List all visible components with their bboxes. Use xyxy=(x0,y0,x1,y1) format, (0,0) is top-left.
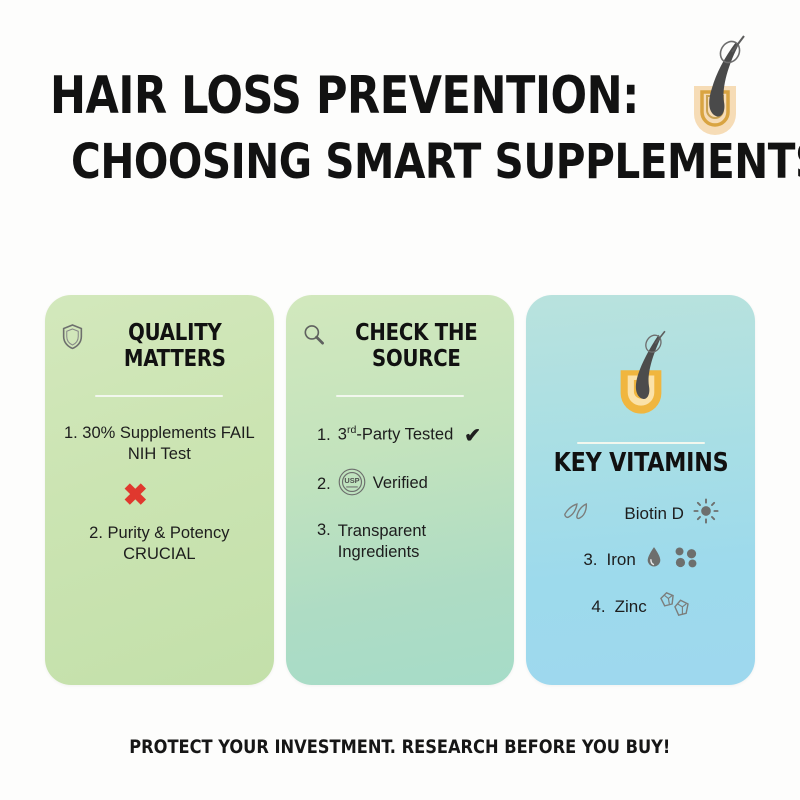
divider xyxy=(336,395,464,397)
divider xyxy=(577,442,705,444)
page-title-line-1: HAIR LOSS PREVENTION: xyxy=(50,70,694,122)
footer: PROTECT YOUR INVESTMENT. RESEARCH BEFORE… xyxy=(0,736,800,758)
page-title-line-2: CHOOSING SMART SUPPLEMENTS xyxy=(71,138,729,186)
check-icon: ✔ xyxy=(464,423,481,448)
divider xyxy=(95,395,223,397)
header: HAIR LOSS PREVENTION: CHOOSING SMART SUP… xyxy=(0,0,800,186)
footer-text: PROTECT YOUR INVESTMENT. RESEARCH BEFORE… xyxy=(129,736,670,758)
list-item-number: 1. xyxy=(317,426,331,445)
list-item: 3. Transparent Ingredients xyxy=(305,521,495,564)
sun-icon xyxy=(693,498,719,529)
list-item-label: Biotin D xyxy=(624,504,684,524)
list-item-number: 4. xyxy=(590,597,606,617)
card-body: 1. 30% Supplements FAIL NIH Test ✖ 2. Pu… xyxy=(61,423,258,579)
list-item-label: Zinc xyxy=(615,597,647,617)
list-item: Biotin D xyxy=(562,498,719,529)
droplet-icon xyxy=(645,545,663,574)
list-item: 2. Purity & Potency CRUCIAL xyxy=(61,523,258,565)
card-title: QUALITY MATTERS xyxy=(96,321,253,373)
list-item-number: 3. xyxy=(582,550,598,570)
list-item-label: Verified xyxy=(373,473,428,494)
gems-icon xyxy=(656,590,692,623)
list-item: 3. Iron xyxy=(582,545,700,574)
list-item: 1. 30% Supplements FAIL NIH Test xyxy=(61,423,258,465)
card-body: Biotin D 3 xyxy=(542,482,739,623)
card-header xyxy=(542,327,739,420)
list-item: 1. 3rd-Party Tested ✔ xyxy=(305,423,495,448)
card-body: 1. 3rd-Party Tested ✔ 2. USP Verif xyxy=(302,423,499,584)
list-item-label: Iron xyxy=(607,550,636,570)
red-x-icon: ✖ xyxy=(123,481,148,511)
list-item-number: 2. xyxy=(317,475,331,494)
shield-icon xyxy=(61,323,84,355)
card-header: QUALITY MATTERS xyxy=(61,321,258,373)
svg-text:USP: USP xyxy=(344,475,359,484)
infographic-root: HAIR LOSS PREVENTION: CHOOSING SMART SUP… xyxy=(0,0,800,800)
card-quality-matters[interactable]: QUALITY MATTERS 1. 30% Supplements FAIL … xyxy=(45,295,274,685)
leaf-icon xyxy=(562,501,590,527)
ordinal-suffix: rd xyxy=(347,424,356,436)
card-check-the-source[interactable]: CHECK THE SOURCE 1. 3rd-Party Tested ✔ 2… xyxy=(286,295,515,685)
magnifying-glass-icon xyxy=(302,323,326,352)
list-item: 4. Zinc xyxy=(590,590,692,623)
card-title: KEY VITAMINS xyxy=(553,448,728,478)
list-item: 2. USP Verified xyxy=(305,468,495,501)
list-item-label: Transparent Ingredients xyxy=(338,521,495,564)
card-title: CHECK THE SOURCE xyxy=(338,321,494,373)
list-item-label: 3rd-Party Tested xyxy=(338,424,453,446)
card-key-vitamins[interactable]: KEY VITAMINS Biotin D xyxy=(526,295,755,685)
pellets-icon xyxy=(672,545,700,574)
list-item-number: 3. xyxy=(317,521,331,540)
cards-row: QUALITY MATTERS 1. 30% Supplements FAIL … xyxy=(45,295,755,685)
hair-follicle-icon xyxy=(610,329,672,420)
card-header: CHECK THE SOURCE xyxy=(302,321,499,373)
hair-follicle-icon xyxy=(674,30,754,140)
usp-seal-icon: USP xyxy=(338,468,366,501)
